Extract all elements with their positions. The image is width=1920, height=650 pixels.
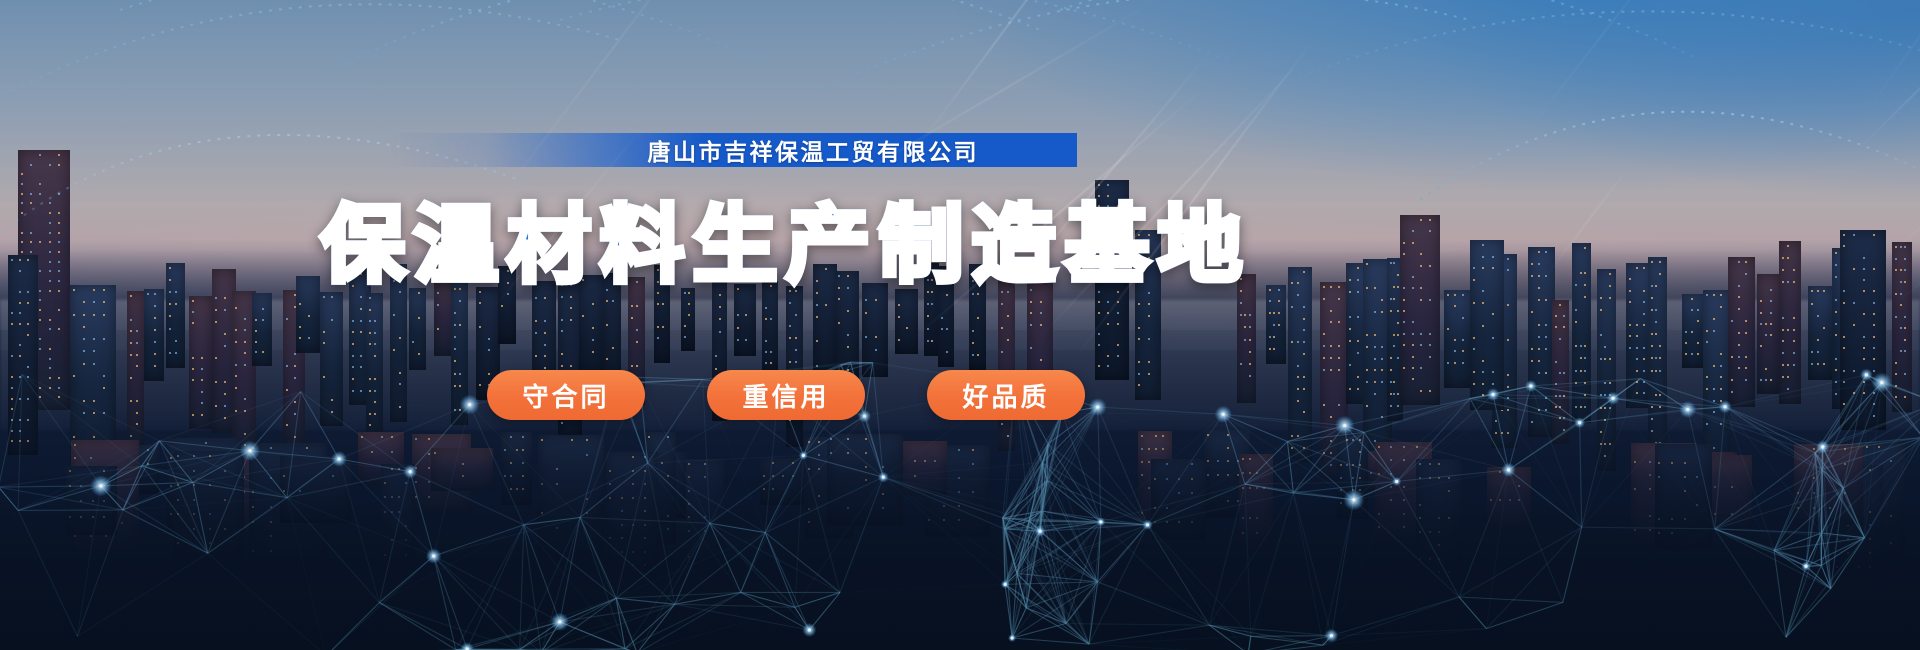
feature-pill-3[interactable]: 好品质 (927, 370, 1085, 420)
page-title: 保温材料生产制造基地 (0, 178, 1572, 299)
feature-pill-list: 守合同重信用好品质 (0, 370, 1572, 420)
feature-pill-2[interactable]: 重信用 (707, 370, 865, 420)
company-name: 唐山市吉祥保温工贸有限公司 (648, 133, 1078, 167)
banner-content: 唐山市吉祥保温工贸有限公司 保温材料生产制造基地 守合同重信用好品质 (0, 0, 1920, 650)
feature-pill-1[interactable]: 守合同 (487, 370, 645, 420)
company-name-bar: 唐山市吉祥保温工贸有限公司 (390, 133, 1077, 167)
hero-banner: 唐山市吉祥保温工贸有限公司 保温材料生产制造基地 守合同重信用好品质 (0, 0, 1920, 650)
